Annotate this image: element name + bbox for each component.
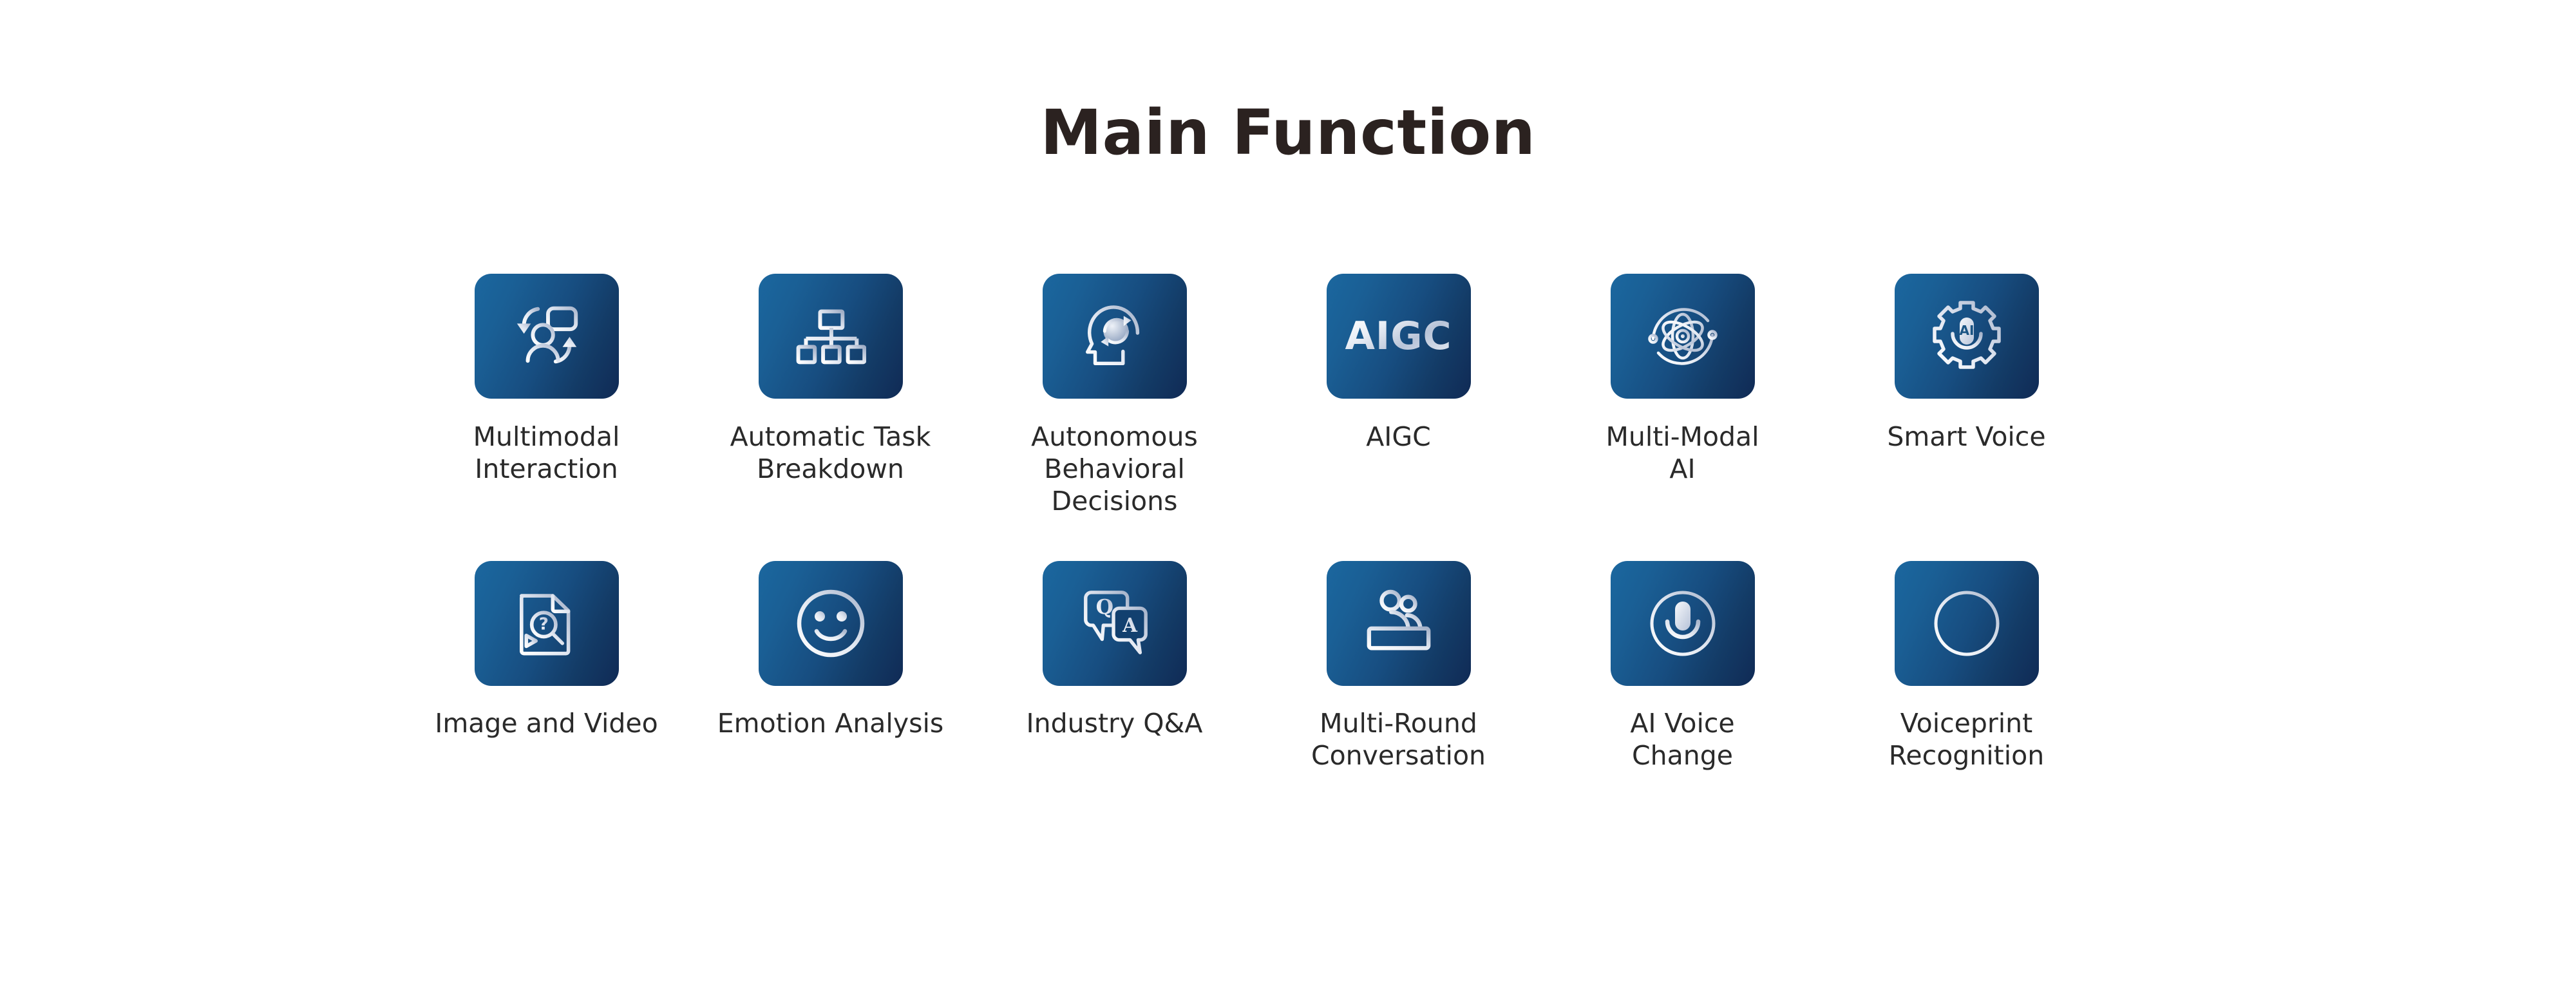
feature-card-image-and-video[interactable]: ? Image and Video bbox=[404, 561, 688, 739]
svg-text:?: ? bbox=[538, 614, 548, 634]
feature-row-1: Multimodal Interaction bbox=[404, 274, 2172, 517]
feature-icon-tile[interactable] bbox=[1043, 274, 1187, 399]
feature-icon-tile[interactable]: AI bbox=[1895, 274, 2039, 399]
feature-label: Autonomous Behavioral Decisions bbox=[1031, 421, 1198, 517]
feature-icon-tile[interactable] bbox=[759, 274, 903, 399]
feature-label: Multi-Round Conversation bbox=[1311, 707, 1486, 772]
atom-orbit-icon bbox=[1644, 298, 1721, 375]
feature-card-aigc[interactable]: AIGC AIGC bbox=[1256, 274, 1540, 453]
page-root: Main Function bbox=[0, 0, 2576, 1006]
people-desk-icon bbox=[1361, 588, 1437, 659]
feature-card-multimodal-interaction[interactable]: Multimodal Interaction bbox=[404, 274, 688, 485]
feature-label: Multimodal Interaction bbox=[473, 421, 620, 485]
feature-icon-tile[interactable] bbox=[1895, 561, 2039, 686]
feature-icon-tile[interactable] bbox=[1611, 561, 1755, 686]
feature-icon-tile[interactable] bbox=[1327, 561, 1471, 686]
feature-card-voiceprint-recognition[interactable]: Voiceprint Recognition bbox=[1824, 561, 2108, 772]
feature-card-industry-qa[interactable]: Q A Industry Q&A bbox=[972, 561, 1256, 739]
feature-icon-tile[interactable] bbox=[475, 274, 619, 399]
aigc-text-icon: AIGC bbox=[1345, 317, 1452, 356]
feature-card-autonomous-behavioral-decisions[interactable]: Autonomous Behavioral Decisions bbox=[972, 274, 1256, 517]
microphone-circle-icon bbox=[1644, 585, 1721, 662]
feature-card-multi-round-conversation[interactable]: Multi-Round Conversation bbox=[1256, 561, 1540, 772]
feature-icon-tile[interactable] bbox=[759, 561, 903, 686]
document-search-play-icon: ? bbox=[511, 587, 583, 660]
feature-label: Multi-Modal AI bbox=[1605, 421, 1759, 485]
feature-card-automatic-task-breakdown[interactable]: Automatic Task Breakdown bbox=[688, 274, 972, 485]
feature-icon-tile[interactable]: ? bbox=[475, 561, 619, 686]
svg-text:AI: AI bbox=[1959, 323, 1974, 338]
head-sync-icon bbox=[1077, 298, 1153, 374]
feature-icon-tile[interactable] bbox=[1611, 274, 1755, 399]
feature-icon-tile[interactable]: AIGC bbox=[1327, 274, 1471, 399]
waveform-circle-icon bbox=[1928, 585, 2005, 662]
feature-card-ai-voice-change[interactable]: AI Voice Change bbox=[1540, 561, 1824, 772]
svg-text:Q: Q bbox=[1095, 595, 1113, 619]
feature-label: Image and Video bbox=[435, 707, 658, 739]
page-title: Main Function bbox=[0, 102, 2576, 164]
feature-label: Smart Voice bbox=[1887, 421, 2045, 453]
task-hierarchy-icon bbox=[795, 301, 866, 372]
feature-label: AI Voice Change bbox=[1630, 707, 1734, 772]
feature-label: Voiceprint Recognition bbox=[1889, 707, 2044, 772]
svg-text:A: A bbox=[1122, 614, 1138, 636]
feature-label: Emotion Analysis bbox=[717, 707, 943, 739]
feature-label: Industry Q&A bbox=[1027, 707, 1203, 739]
feature-label: AIGC bbox=[1366, 421, 1431, 453]
smiley-face-icon bbox=[792, 585, 869, 662]
gear-microphone-ai-icon: AI bbox=[1928, 298, 2005, 375]
feature-label: Automatic Task Breakdown bbox=[730, 421, 931, 485]
feature-icon-tile[interactable]: Q A bbox=[1043, 561, 1187, 686]
feature-card-multi-modal-ai[interactable]: Multi-Modal AI bbox=[1540, 274, 1824, 485]
feature-card-emotion-analysis[interactable]: Emotion Analysis bbox=[688, 561, 972, 739]
qa-speech-bubbles-icon: Q A bbox=[1077, 585, 1153, 661]
multimodal-interaction-icon bbox=[509, 298, 585, 374]
feature-card-smart-voice[interactable]: AI Smart Voice bbox=[1824, 274, 2108, 453]
feature-row-2: ? Image and Video bbox=[404, 561, 2172, 772]
feature-grid: Multimodal Interaction bbox=[404, 274, 2172, 772]
